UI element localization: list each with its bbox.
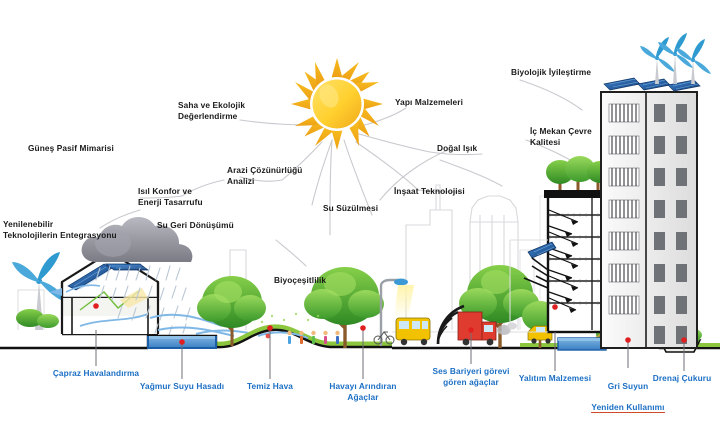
label-biyocesitlilik: Biyoçeşitlilik <box>274 275 326 286</box>
label-su-geri-donusumu: Su Geri Dönüşümü <box>157 220 234 231</box>
shrub-left-icon <box>16 309 59 328</box>
label-isil-konfor-ve-enerji-tasarrufu: Isıl Konfor ve Enerji Tasarrufu <box>138 186 203 207</box>
callout-havayi-arindiran-agaclar: Havayı Arındıran Ağaçlar <box>318 381 408 402</box>
label-yenilenebilir-teknolojilerin-entegrasyonu: Yenilenebilir Teknolojilerin Entegrasyon… <box>3 219 117 240</box>
scene-illustration <box>0 0 720 427</box>
label-insaat-teknolojisi: İnşaat Teknolojisi <box>394 186 465 197</box>
label-yapi-malzemeleri: Yapı Malzemeleri <box>395 97 463 108</box>
callout-ses-bariyeri-goren-agaclar: Ses Bariyeri görevi gören ağaçlar <box>421 366 521 387</box>
label-biyolojik-iyilestirme: Biyolojik İyileştirme <box>511 67 591 78</box>
callout-gri-suyun-yeniden-kullanimi: Gri Suyun Yeniden Kullanımı <box>578 370 678 413</box>
callout-temiz-hava: Temiz Hava <box>237 381 303 392</box>
residential-tower <box>601 33 711 348</box>
callout-gri-suyun-line1: Gri Suyun <box>608 381 649 391</box>
infographic-canvas: Güneş Pasif Mimarisi Yenilenebilir Tekno… <box>0 0 720 427</box>
house-cross-section <box>50 252 158 334</box>
solar-panels-tower-icon <box>604 78 700 91</box>
greywater-tank <box>558 338 606 350</box>
callout-capraz-havalandirma: Çapraz Havalandırma <box>41 368 151 379</box>
label-saha-ve-ekolojik-degerlendirme: Saha ve Ekolojik Değerlendirme <box>178 100 245 121</box>
wind-turbines-roof-icon <box>640 33 711 84</box>
label-arazi-cozunurlugu-analizi: Arazi Çözünürlüğü Analizi <box>227 165 302 186</box>
sun-icon <box>291 58 383 150</box>
label-su-suzulmesi: Su Süzülmesi <box>323 203 378 214</box>
label-ic-mekan-cevre-kalitesi: İç Mekan Çevre Kalitesi <box>530 126 592 147</box>
label-dogal-isik: Doğal Işık <box>437 143 477 154</box>
label-gunes-pasif-mimarisi: Güneş Pasif Mimarisi <box>28 143 114 154</box>
callout-gri-suyun-line2: Yeniden Kullanımı <box>591 402 664 414</box>
callout-yagmur-suyu-hasadi: Yağmur Suyu Hasadı <box>128 381 236 392</box>
